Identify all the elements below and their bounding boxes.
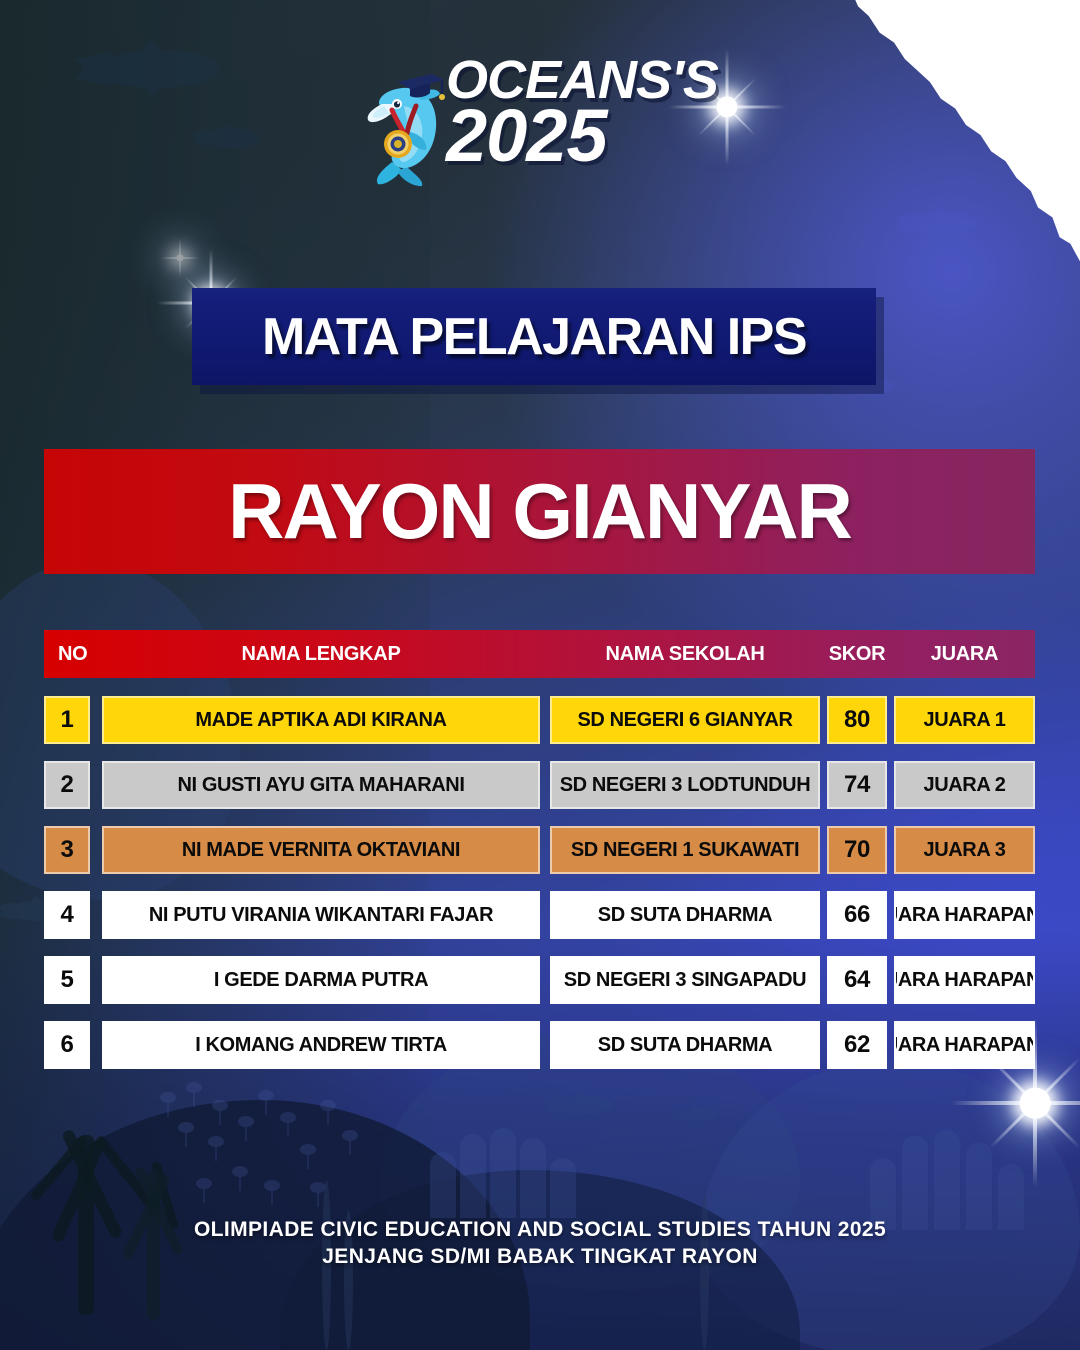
- cell-score: 70: [827, 826, 887, 874]
- cell-no: 5: [44, 956, 90, 1004]
- cell-no: 3: [44, 826, 90, 874]
- footer-line-1: OLIMPIADE CIVIC EDUCATION AND SOCIAL STU…: [0, 1216, 1080, 1243]
- table-row: 3NI MADE VERNITA OKTAVIANISD NEGERI 1 SU…: [44, 826, 1035, 874]
- poster-canvas: OCEANS'S 2025 MATA PELAJARAN IPS RAYON G…: [0, 0, 1080, 1350]
- cell-name: I GEDE DARMA PUTRA: [102, 956, 540, 1004]
- table-header-row: NO NAMA LENGKAP NAMA SEKOLAH SKOR JUARA: [44, 630, 1035, 678]
- cell-score: 74: [827, 761, 887, 809]
- table-row: 1MADE APTIKA ADI KIRANASD NEGERI 6 GIANY…: [44, 696, 1035, 744]
- cell-no: 4: [44, 891, 90, 939]
- cell-school: SD NEGERI 6 GIANYAR: [550, 696, 820, 744]
- region-banner: RAYON GIANYAR: [44, 449, 1035, 574]
- logo-wordmark: OCEANS'S 2025: [446, 58, 722, 167]
- table-row: 4NI PUTU VIRANIA WIKANTARI FAJARSD SUTA …: [44, 891, 1035, 939]
- fish-silhouette-icon: [200, 122, 260, 154]
- fish-silhouette-icon: [92, 38, 220, 100]
- cell-no: 6: [44, 1021, 90, 1069]
- cell-school: SD NEGERI 3 SINGAPADU: [550, 956, 820, 1004]
- table-row: 2NI GUSTI AYU GITA MAHARANISD NEGERI 3 L…: [44, 761, 1035, 809]
- cell-score: 64: [827, 956, 887, 1004]
- logo-line-2: 2025: [446, 106, 722, 167]
- cell-rank: JUARA 3: [894, 826, 1035, 874]
- cell-no: 1: [44, 696, 90, 744]
- subject-banner-label: MATA PELAJARAN IPS: [192, 288, 876, 385]
- cell-rank: JUARA HARAPAN 1: [894, 891, 1035, 939]
- cell-name: I KOMANG ANDREW TIRTA: [102, 1021, 540, 1069]
- cell-name: NI PUTU VIRANIA WIKANTARI FAJAR: [102, 891, 540, 939]
- cell-rank: JUARA HARAPAN 3: [894, 1021, 1035, 1069]
- anemone-icon: [870, 1130, 1050, 1230]
- fish-silhouette-icon: [905, 205, 979, 241]
- results-table: NO NAMA LENGKAP NAMA SEKOLAH SKOR JUARA …: [44, 630, 1035, 1086]
- cell-no: 2: [44, 761, 90, 809]
- column-header-school: NAMA SEKOLAH: [550, 630, 820, 678]
- subject-banner: MATA PELAJARAN IPS: [192, 288, 876, 385]
- cell-rank: JUARA 2: [894, 761, 1035, 809]
- cell-score: 66: [827, 891, 887, 939]
- cell-school: SD SUTA DHARMA: [550, 891, 820, 939]
- cell-school: SD NEGERI 1 SUKAWATI: [550, 826, 820, 874]
- cell-rank: JUARA HARAPAN 2: [894, 956, 1035, 1004]
- column-header-name: NAMA LENGKAP: [102, 630, 540, 678]
- region-banner-label: RAYON GIANYAR: [44, 449, 1035, 574]
- footer-caption: OLIMPIADE CIVIC EDUCATION AND SOCIAL STU…: [0, 1216, 1080, 1271]
- event-logo: OCEANS'S 2025: [362, 62, 722, 192]
- anemone-icon: [430, 1128, 600, 1218]
- cell-school: SD NEGERI 3 LODTUNDUH: [550, 761, 820, 809]
- cell-score: 80: [827, 696, 887, 744]
- cell-name: MADE APTIKA ADI KIRANA: [102, 696, 540, 744]
- column-header-rank: JUARA: [894, 630, 1035, 678]
- table-row: 5I GEDE DARMA PUTRASD NEGERI 3 SINGAPADU…: [44, 956, 1035, 1004]
- cell-name: NI GUSTI AYU GITA MAHARANI: [102, 761, 540, 809]
- cell-rank: JUARA 1: [894, 696, 1035, 744]
- cell-score: 62: [827, 1021, 887, 1069]
- table-row: 6I KOMANG ANDREW TIRTASD SUTA DHARMA62JU…: [44, 1021, 1035, 1069]
- dolphin-mascot-icon: [362, 66, 446, 188]
- footer-line-2: JENJANG SD/MI BABAK TINGKAT RAYON: [0, 1243, 1080, 1270]
- cell-school: SD SUTA DHARMA: [550, 1021, 820, 1069]
- cell-name: NI MADE VERNITA OKTAVIANI: [102, 826, 540, 874]
- column-header-score: SKOR: [827, 630, 887, 678]
